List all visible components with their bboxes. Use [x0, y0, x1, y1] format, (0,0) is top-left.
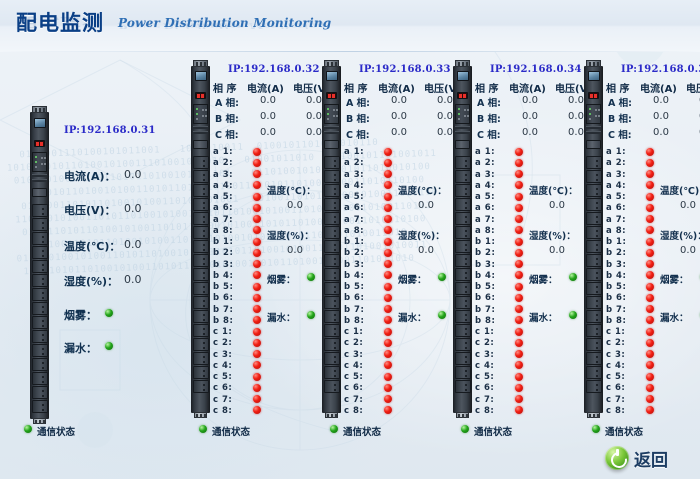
comm-status-indicator: [199, 425, 207, 433]
outlet-status-indicator[interactable]: [646, 395, 654, 403]
column-header-current: 电流(A): [640, 80, 677, 95]
column-header-phase: 相 序: [475, 80, 498, 95]
outlet-status-indicator[interactable]: [646, 193, 654, 201]
outlet-label: c 6:: [344, 383, 363, 393]
outlet-status-indicator[interactable]: [384, 260, 392, 268]
outlet-status-indicator[interactable]: [515, 294, 523, 302]
outlet-status-indicator[interactable]: [646, 238, 654, 246]
phase-current-value: 0.0: [509, 111, 551, 122]
humidity-label: 湿度(%)：: [267, 228, 314, 242]
outlet-label: a 8:: [606, 226, 626, 236]
outlet-label: a 1:: [475, 147, 495, 157]
temperature-label: 温度(℃)：: [660, 183, 700, 197]
outlet-label: a 2:: [606, 158, 626, 168]
phase-voltage-value: 0.0: [686, 111, 700, 122]
water-leak-status-indicator: [438, 311, 446, 319]
outlet-status-indicator[interactable]: [253, 373, 261, 381]
outlet-label: c 4:: [606, 361, 625, 371]
outlet-status-indicator[interactable]: [253, 339, 261, 347]
column-header-voltage: 电压(V): [686, 80, 700, 95]
temperature-label: 温度(℃)：: [267, 183, 316, 197]
outlet-status-indicator[interactable]: [384, 305, 392, 313]
outlet-label: b 4:: [213, 271, 233, 281]
outlet-status-indicator[interactable]: [646, 260, 654, 268]
smoke-status-indicator: [438, 273, 446, 281]
outlet-status-indicator[interactable]: [515, 159, 523, 167]
pdu-socket-strip: [32, 204, 48, 414]
outlet-status-indicator[interactable]: [515, 249, 523, 257]
pdu-digit-led: [457, 92, 468, 99]
outlet-label: a 2:: [475, 158, 495, 168]
outlet-label: b 5:: [344, 282, 364, 292]
outlet-status-indicator[interactable]: [646, 350, 654, 358]
humidity-label: 湿度(%)：: [660, 228, 700, 242]
outlet-label: c 6:: [475, 383, 494, 393]
outlet-label: b 1:: [475, 237, 495, 247]
outlet-status-indicator[interactable]: [384, 373, 392, 381]
phase-row-label: B 相:: [346, 111, 370, 125]
outlet-label: a 2:: [213, 158, 233, 168]
outlet-status-indicator[interactable]: [253, 294, 261, 302]
outlet-status-indicator[interactable]: [515, 238, 523, 246]
outlet-label: b 8:: [606, 316, 626, 326]
outlet-label: b 8:: [213, 316, 233, 326]
pdu-device-graphic: [584, 66, 603, 413]
outlet-label: b 1:: [344, 237, 364, 247]
outlet-label: b 5:: [475, 282, 495, 292]
outlet-label: a 1:: [606, 147, 626, 157]
outlet-label: c 8:: [213, 406, 232, 416]
phase-row-label: B 相:: [477, 111, 501, 125]
voltage-value: 0.0: [124, 202, 142, 215]
outlet-status-indicator[interactable]: [646, 283, 654, 291]
outlet-label: b 8:: [344, 316, 364, 326]
outlet-label: a 3:: [344, 170, 364, 180]
pdu-socket-strip: [324, 156, 340, 394]
outlet-status-indicator[interactable]: [515, 328, 523, 336]
pdu-module: [586, 140, 601, 149]
phase-voltage-value: 0.0: [686, 95, 700, 106]
page-subtitle-reflection: Power Distribution Monitoring: [118, 22, 326, 30]
outlet-label: c 7:: [213, 395, 232, 405]
phase-current-value: 0.0: [378, 95, 420, 106]
pdu-device-graphic: [30, 112, 49, 419]
pdu-bottom-cap: [587, 412, 600, 418]
outlet-status-indicator[interactable]: [253, 305, 261, 313]
outlet-label: c 6:: [213, 383, 232, 393]
outlet-label: c 1:: [475, 327, 494, 337]
outlet-status-indicator[interactable]: [515, 148, 523, 156]
water-leak-label: 漏水：: [64, 340, 97, 356]
phase-row-label: A 相:: [215, 95, 239, 109]
outlet-label: c 1:: [606, 327, 625, 337]
water-leak-label: 漏水：: [267, 310, 296, 324]
outlet-label: c 5:: [475, 372, 494, 382]
humidity-label: 湿度(%)：: [64, 273, 118, 289]
column-header-current: 电流(A): [247, 80, 284, 95]
pdu-bottom-cap: [456, 412, 469, 418]
humidity-value: 0.0: [124, 273, 142, 286]
outlet-label: c 6:: [606, 383, 625, 393]
outlet-label: a 6:: [475, 203, 495, 213]
pdu-digit-led: [588, 92, 599, 99]
pdu-display-screen: [588, 71, 600, 81]
comm-status-label: 通信状态: [37, 424, 75, 438]
outlet-label: c 1:: [344, 327, 363, 337]
pdu-control-block: [586, 104, 601, 124]
outlet-status-indicator[interactable]: [253, 238, 261, 246]
smoke-status-indicator: [105, 309, 113, 317]
temperature-label: 温度(℃)：: [529, 183, 578, 197]
phase-current-value: 0.0: [247, 95, 289, 106]
pdu-socket-strip: [586, 156, 602, 394]
outlet-label: c 5:: [606, 372, 625, 382]
outlet-label: b 2:: [344, 248, 364, 258]
comm-status-label: 通信状态: [212, 424, 250, 438]
outlet-label: a 8:: [475, 226, 495, 236]
outlet-label: a 7:: [213, 215, 233, 225]
pdu-control-block: [32, 152, 47, 172]
water-leak-status-indicator: [569, 311, 577, 319]
outlet-label: a 3:: [475, 170, 495, 180]
ip-address-label: IP:192.168.0.31: [64, 125, 156, 136]
comm-status-indicator: [24, 425, 32, 433]
back-button-label: 返回: [634, 446, 668, 471]
phase-current-value: 0.0: [640, 111, 682, 122]
outlet-label: b 2:: [213, 248, 233, 258]
humidity-value: 0.0: [529, 245, 585, 256]
phase-current-value: 0.0: [640, 95, 682, 106]
phase-current-value: 0.0: [247, 127, 289, 138]
water-leak-label: 漏水：: [398, 310, 427, 324]
outlet-label: b 4:: [344, 271, 364, 281]
outlet-status-indicator[interactable]: [515, 395, 523, 403]
outlet-label: c 3:: [475, 350, 494, 360]
outlet-status-indicator[interactable]: [384, 249, 392, 257]
outlet-label: b 4:: [606, 271, 626, 281]
back-button[interactable]: 返回: [605, 443, 668, 473]
comm-status-indicator: [592, 425, 600, 433]
ip-address-label: IP:192.168.0.32: [228, 64, 320, 75]
temperature-value: 0.0: [660, 200, 700, 211]
phase-current-value: 0.0: [378, 127, 420, 138]
pdu-display-screen: [326, 71, 338, 81]
outlet-status-indicator[interactable]: [384, 294, 392, 302]
outlet-label: a 4:: [213, 181, 233, 191]
smoke-status-indicator: [307, 273, 315, 281]
outlet-status-indicator[interactable]: [253, 350, 261, 358]
outlet-label: a 7:: [475, 215, 495, 225]
outlet-label: a 7:: [606, 215, 626, 225]
pdu-display-screen: [457, 71, 469, 81]
column-header-phase: 相 序: [606, 80, 629, 95]
outlet-status-indicator[interactable]: [384, 193, 392, 201]
outlet-label: b 7:: [344, 305, 364, 315]
comm-status-indicator: [330, 425, 338, 433]
outlet-status-indicator[interactable]: [646, 204, 654, 212]
outlet-status-indicator[interactable]: [253, 159, 261, 167]
outlet-status-indicator[interactable]: [646, 159, 654, 167]
outlet-label: a 5:: [344, 192, 364, 202]
outlet-label: a 4:: [606, 181, 626, 191]
comm-status-label: 通信状态: [605, 424, 643, 438]
outlet-label: a 6:: [344, 203, 364, 213]
phase-current-value: 0.0: [378, 111, 420, 122]
outlet-label: b 3:: [475, 260, 495, 270]
power-refresh-icon: [605, 446, 629, 470]
voltage-label: 电压(V)：: [64, 202, 116, 218]
outlet-label: b 1:: [606, 237, 626, 247]
outlet-label: b 2:: [475, 248, 495, 258]
pdu-top-cap: [32, 106, 47, 113]
outlet-status-indicator[interactable]: [253, 215, 261, 223]
comm-status-indicator: [461, 425, 469, 433]
outlet-status-indicator[interactable]: [384, 283, 392, 291]
outlet-status-indicator[interactable]: [253, 148, 261, 156]
pdu-digit-led: [195, 92, 206, 99]
phase-current-value: 0.0: [509, 95, 551, 106]
outlet-label: a 7:: [344, 215, 364, 225]
outlet-label: c 4:: [213, 361, 232, 371]
humidity-value: 0.0: [398, 245, 454, 256]
pdu-display-screen: [34, 118, 46, 128]
outlet-label: b 7:: [213, 305, 233, 315]
outlet-status-indicator[interactable]: [253, 260, 261, 268]
pdu-control-block: [324, 104, 339, 124]
outlet-status-indicator[interactable]: [515, 170, 523, 178]
phase-row-label: A 相:: [477, 95, 501, 109]
outlet-status-indicator[interactable]: [384, 215, 392, 223]
outlet-label: c 7:: [606, 395, 625, 405]
outlet-status-indicator[interactable]: [515, 193, 523, 201]
outlet-status-indicator[interactable]: [646, 215, 654, 223]
humidity-label: 湿度(%)：: [529, 228, 576, 242]
outlet-status-indicator[interactable]: [646, 170, 654, 178]
humidity-label: 湿度(%)：: [398, 228, 445, 242]
smoke-label: 烟雾：: [398, 272, 427, 286]
phase-row-label: C 相:: [477, 127, 501, 141]
humidity-value: 0.0: [267, 245, 323, 256]
app-header: 配电监测 Power Distribution Monitoring 配电监测 …: [0, 0, 700, 52]
outlet-label: a 4:: [475, 181, 495, 191]
temperature-value: 0.0: [529, 200, 585, 211]
outlet-status-indicator[interactable]: [253, 328, 261, 336]
page-title-reflection: 配电监测: [16, 14, 104, 32]
water-leak-label: 漏水：: [529, 310, 558, 324]
pdu-socket-strip: [455, 156, 471, 394]
outlet-label: a 3:: [606, 170, 626, 180]
pdu-module: [32, 188, 47, 197]
outlet-status-indicator[interactable]: [253, 249, 261, 257]
outlet-status-indicator[interactable]: [515, 350, 523, 358]
outlet-label: b 6:: [213, 293, 233, 303]
outlet-status-indicator[interactable]: [253, 384, 261, 392]
outlet-status-indicator[interactable]: [646, 294, 654, 302]
outlet-status-indicator[interactable]: [253, 283, 261, 291]
pdu-socket-strip: [193, 156, 209, 394]
smoke-label: 烟雾：: [660, 272, 689, 286]
outlet-label: c 4:: [475, 361, 494, 371]
phase-current-value: 0.0: [640, 127, 682, 138]
temperature-value: 0.0: [124, 238, 142, 251]
outlet-label: c 2:: [606, 338, 625, 348]
outlet-label: c 7:: [344, 395, 363, 405]
temperature-value: 0.0: [398, 200, 454, 211]
pdu-module: [324, 140, 339, 149]
smoke-label: 烟雾：: [64, 307, 97, 323]
outlet-status-indicator[interactable]: [515, 204, 523, 212]
outlet-status-indicator[interactable]: [253, 395, 261, 403]
outlet-status-indicator[interactable]: [253, 193, 261, 201]
outlet-status-indicator[interactable]: [384, 384, 392, 392]
phase-current-value: 0.0: [247, 111, 289, 122]
phase-row-label: A 相:: [608, 95, 632, 109]
water-leak-label: 漏水：: [660, 310, 689, 324]
outlet-status-indicator[interactable]: [515, 373, 523, 381]
outlet-status-indicator[interactable]: [253, 204, 261, 212]
outlet-status-indicator[interactable]: [515, 283, 523, 291]
pdu-digit-led: [34, 140, 45, 147]
outlet-label: b 5:: [606, 282, 626, 292]
outlet-label: b 7:: [475, 305, 495, 315]
outlet-label: b 6:: [606, 293, 626, 303]
outlet-label: c 1:: [213, 327, 232, 337]
pdu-top-cap: [324, 60, 339, 67]
column-header-phase: 相 序: [213, 80, 236, 95]
outlet-status-indicator[interactable]: [384, 204, 392, 212]
outlet-status-indicator[interactable]: [384, 159, 392, 167]
outlet-status-indicator[interactable]: [515, 305, 523, 313]
pdu-top-cap: [586, 60, 601, 67]
outlet-label: c 2:: [213, 338, 232, 348]
outlet-label: b 5:: [213, 282, 233, 292]
phase-row-label: C 相:: [608, 127, 632, 141]
water-leak-status-indicator: [105, 342, 113, 350]
outlet-label: a 5:: [606, 192, 626, 202]
outlet-status-indicator[interactable]: [515, 384, 523, 392]
humidity-value: 0.0: [660, 245, 700, 256]
outlet-label: c 5:: [213, 372, 232, 382]
outlet-label: b 3:: [213, 260, 233, 270]
outlet-label: a 5:: [213, 192, 233, 202]
pdu-control-block: [193, 104, 208, 124]
header-divider: [0, 51, 700, 52]
phase-row-label: C 相:: [346, 127, 370, 141]
outlet-status-indicator[interactable]: [384, 339, 392, 347]
outlet-status-indicator[interactable]: [646, 305, 654, 313]
outlet-label: b 3:: [606, 260, 626, 270]
pdu-control-block: [455, 104, 470, 124]
outlet-label: b 6:: [344, 293, 364, 303]
column-header-phase: 相 序: [344, 80, 367, 95]
outlet-label: a 8:: [213, 226, 233, 236]
outlet-label: c 2:: [344, 338, 363, 348]
pdu-bottom-cap: [194, 412, 207, 418]
pdu-bottom-cap: [325, 412, 338, 418]
phase-row-label: B 相:: [215, 111, 239, 125]
outlet-status-indicator[interactable]: [253, 170, 261, 178]
temperature-label: 温度(℃)：: [64, 238, 120, 254]
outlet-status-indicator[interactable]: [515, 339, 523, 347]
outlet-label: c 7:: [475, 395, 494, 405]
outlet-label: a 2:: [344, 158, 364, 168]
phase-voltage-value: 0.0: [686, 127, 700, 138]
pdu-display-screen: [195, 71, 207, 81]
outlet-label: c 8:: [606, 406, 625, 416]
outlet-label: b 6:: [475, 293, 495, 303]
ip-address-label: IP:192.168.0.34: [490, 64, 582, 75]
pdu-device-graphic: [191, 66, 210, 413]
outlet-status-indicator[interactable]: [646, 148, 654, 156]
outlet-status-indicator[interactable]: [384, 238, 392, 246]
outlet-label: c 2:: [475, 338, 494, 348]
outlet-status-indicator[interactable]: [384, 148, 392, 156]
outlet-label: c 8:: [475, 406, 494, 416]
outlet-status-indicator[interactable]: [384, 350, 392, 358]
phase-row-label: B 相:: [608, 111, 632, 125]
outlet-label: b 2:: [606, 248, 626, 258]
outlet-label: b 7:: [606, 305, 626, 315]
outlet-status-indicator[interactable]: [384, 170, 392, 178]
pdu-module: [193, 140, 208, 149]
outlet-label: c 4:: [344, 361, 363, 371]
outlet-label: c 8:: [344, 406, 363, 416]
phase-row-label: A 相:: [346, 95, 370, 109]
outlet-status-indicator[interactable]: [384, 328, 392, 336]
outlet-label: c 3:: [606, 350, 625, 360]
pdu-top-cap: [193, 60, 208, 67]
outlet-status-indicator[interactable]: [646, 249, 654, 257]
outlet-label: b 8:: [475, 316, 495, 326]
ip-address-label: IP:192.168.0.35: [621, 64, 700, 75]
outlet-status-indicator[interactable]: [515, 215, 523, 223]
phase-current-value: 0.0: [509, 127, 551, 138]
outlet-label: c 5:: [344, 372, 363, 382]
outlet-label: b 1:: [213, 237, 233, 247]
outlet-label: b 3:: [344, 260, 364, 270]
column-header-current: 电流(A): [378, 80, 415, 95]
outlet-status-indicator[interactable]: [646, 384, 654, 392]
outlet-status-indicator[interactable]: [646, 328, 654, 336]
temperature-value: 0.0: [267, 200, 323, 211]
ip-address-label: IP:192.168.0.33: [359, 64, 451, 75]
outlet-label: c 3:: [213, 350, 232, 360]
outlet-label: a 3:: [213, 170, 233, 180]
outlet-status-indicator[interactable]: [646, 339, 654, 347]
pdu-top-cap: [455, 60, 470, 67]
phase-row-label: C 相:: [215, 127, 239, 141]
smoke-status-indicator: [569, 273, 577, 281]
outlet-status-indicator[interactable]: [646, 373, 654, 381]
outlet-label: c 3:: [344, 350, 363, 360]
comm-status-label: 通信状态: [343, 424, 381, 438]
outlet-status-indicator[interactable]: [515, 260, 523, 268]
pdu-device-graphic: [453, 66, 472, 413]
outlet-label: a 5:: [475, 192, 495, 202]
outlet-label: a 1:: [213, 147, 233, 157]
outlet-label: a 6:: [213, 203, 233, 213]
outlet-label: a 4:: [344, 181, 364, 191]
outlet-label: a 1:: [344, 147, 364, 157]
comm-status-label: 通信状态: [474, 424, 512, 438]
outlet-label: b 4:: [475, 271, 495, 281]
water-leak-status-indicator: [307, 311, 315, 319]
outlet-status-indicator[interactable]: [384, 395, 392, 403]
outlet-label: a 8:: [344, 226, 364, 236]
smoke-label: 烟雾：: [267, 272, 296, 286]
pdu-module: [455, 140, 470, 149]
pdu-digit-led: [326, 92, 337, 99]
